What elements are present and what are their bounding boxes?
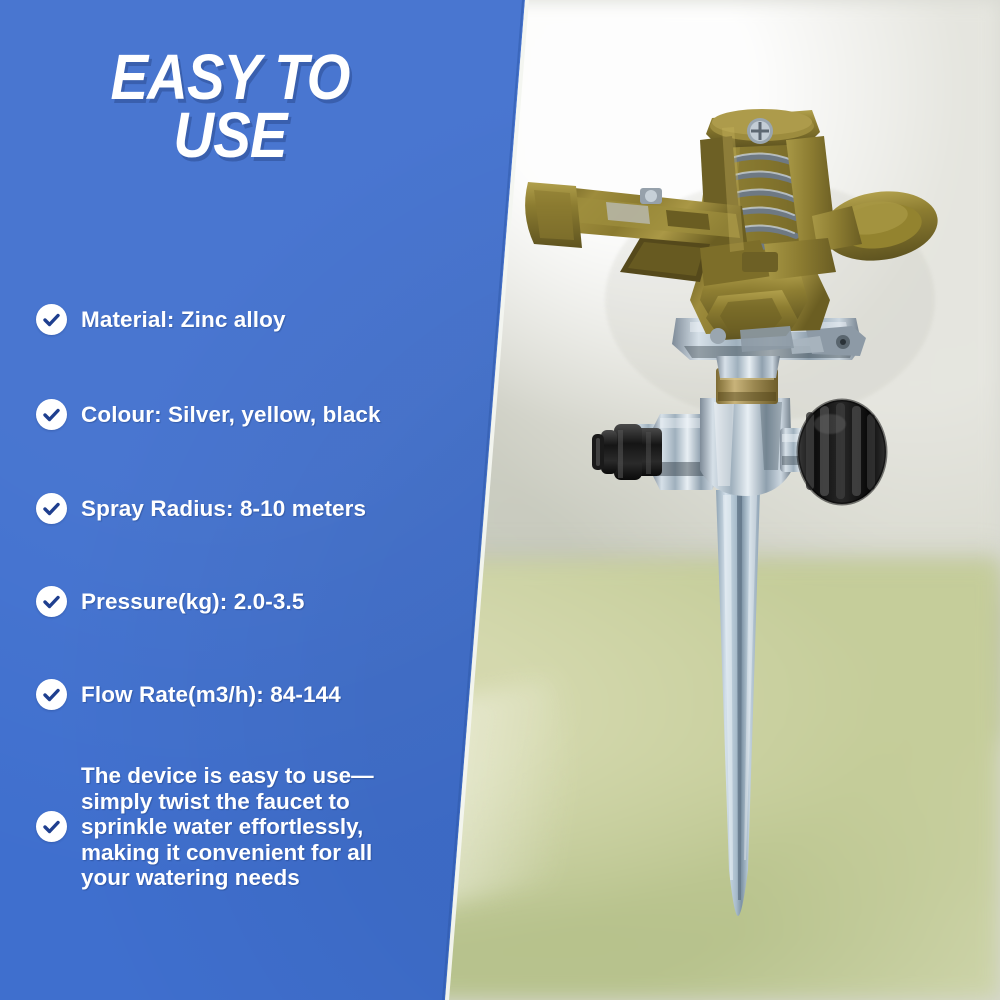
check-circle-icon bbox=[36, 586, 67, 617]
product-feature-card: EASY TO USE Material: Zinc alloy Colour:… bbox=[0, 0, 1000, 1000]
feature-item-pressure: Pressure(kg): 2.0-3.5 bbox=[36, 586, 456, 617]
check-circle-icon bbox=[36, 399, 67, 430]
check-circle-icon bbox=[36, 679, 67, 710]
feature-item-flow-rate: Flow Rate(m3/h): 84-144 bbox=[36, 679, 456, 710]
feature-label: Material: Zinc alloy bbox=[81, 307, 286, 333]
panel-content: EASY TO USE Material: Zinc alloy Colour:… bbox=[0, 0, 525, 1000]
adjustment-knob bbox=[798, 400, 886, 504]
feature-label: Colour: Silver, yellow, black bbox=[81, 402, 381, 428]
description-text: The device is easy to use— simply twist … bbox=[81, 763, 381, 891]
feature-label: Pressure(kg): 2.0-3.5 bbox=[81, 589, 304, 615]
page-title: EASY TO USE bbox=[28, 48, 433, 164]
feature-label: Spray Radius: 8-10 meters bbox=[81, 496, 366, 522]
feature-item-description: The device is easy to use— simply twist … bbox=[36, 763, 456, 891]
check-circle-icon bbox=[36, 493, 67, 524]
feature-item-spray-radius: Spray Radius: 8-10 meters bbox=[36, 493, 456, 524]
feature-item-colour: Colour: Silver, yellow, black bbox=[36, 399, 456, 430]
check-circle-icon bbox=[36, 811, 67, 842]
ground-spike bbox=[716, 490, 760, 916]
hose-quick-connector bbox=[592, 424, 662, 480]
feature-label: Flow Rate(m3/h): 84-144 bbox=[81, 682, 341, 708]
check-circle-icon bbox=[36, 304, 67, 335]
feature-item-material: Material: Zinc alloy bbox=[36, 304, 456, 335]
